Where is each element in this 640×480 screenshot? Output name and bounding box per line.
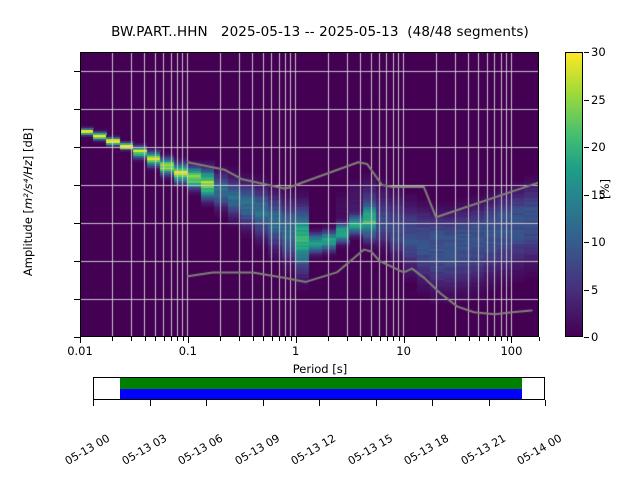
timeline-tick [489,400,490,406]
timeline-tick-label: 05-14 00 [515,432,564,468]
timeline-tick [376,400,377,406]
x-tick-minor [155,337,156,341]
x-tick-minor [380,337,381,341]
x-tick-minor [371,337,372,341]
colorbar [565,52,583,337]
colorbar-tick-label: 5 [591,283,598,297]
x-tick-minor [539,337,540,341]
x-tick-minor [112,337,113,341]
figure-title: BW.PART..HHN 2025-05-13 -- 2025-05-13 (4… [0,24,640,40]
x-tick-minor [387,337,388,341]
x-tick-minor [239,337,240,341]
x-tick-minor [479,337,480,341]
y-tick [74,71,80,72]
colorbar-tick [584,195,589,196]
y-tick [74,299,80,300]
x-axis-label: Period [s] [0,362,640,376]
x-tick-minor [263,337,264,341]
y-tick [74,261,80,262]
x-tick-minor [177,337,178,341]
x-tick-label: 100 [500,344,522,358]
colorbar-tick [584,52,589,53]
colorbar-tick [584,337,589,338]
x-tick-minor [285,337,286,341]
timeline-tick-label: 05-13 09 [232,432,281,468]
x-tick-minor [501,337,502,341]
x-tick-minor [291,337,292,341]
y-tick [74,185,80,186]
x-tick-minor [495,337,496,341]
x-tick-minor [171,337,172,341]
x-tick-minor [164,337,165,341]
y-tick [74,147,80,148]
x-tick-minor [361,337,362,341]
data-coverage-timeline[interactable] [93,377,545,400]
coverage-band-green [120,378,522,389]
timeline-tick [150,400,151,406]
x-tick-minor [393,337,394,341]
x-tick-minor [469,337,470,341]
timeline-tick [93,400,94,406]
timeline-tick-label: 05-13 12 [289,432,338,468]
x-tick-major [511,337,512,343]
ppsd-plot-area[interactable] [80,52,539,337]
x-tick-minor [272,337,273,341]
x-tick-major [80,337,81,343]
x-tick-label: 0.01 [67,344,93,358]
y-tick [74,109,80,110]
y-axis-label-units: m²/s⁴/Hz [21,160,35,209]
coverage-band-blue [120,389,522,400]
timeline-tick [319,400,320,406]
colorbar-tick-label: 10 [591,235,606,249]
colorbar-label: [%] [598,169,612,209]
x-tick-minor [455,337,456,341]
x-tick-minor [399,337,400,341]
x-tick-major [188,337,189,343]
y-tick [74,223,80,224]
x-tick-minor [253,337,254,341]
x-tick-minor [347,337,348,341]
y-axis-label-pre: Amplitude [ [21,209,35,276]
colorbar-tick [584,100,589,101]
colorbar-tick-label: 20 [591,140,606,154]
x-tick-minor [488,337,489,341]
timeline-tick [432,400,433,406]
timeline-tick-label: 05-13 21 [458,432,507,468]
x-tick-major [296,337,297,343]
timeline-tick-label: 05-13 06 [176,432,225,468]
coverage-span [120,378,522,399]
x-tick-minor [507,337,508,341]
timeline-tick-label: 05-13 00 [63,432,112,468]
x-tick-label: 10 [396,344,411,358]
timeline-tick [263,400,264,406]
ppsd-histogram-canvas [81,53,538,336]
timeline-tick-label: 05-13 18 [402,432,451,468]
y-axis-label-post: ] [dB] [21,128,35,160]
colorbar-tick-label: 25 [591,93,606,107]
x-tick-label: 1 [292,344,299,358]
x-tick-minor [436,337,437,341]
timeline-tick [206,400,207,406]
x-tick-minor [220,337,221,341]
timeline-tick-label: 05-13 15 [345,432,394,468]
colorbar-tick-label: 0 [591,330,598,344]
timeline-tick [545,400,546,406]
colorbar-tick [584,290,589,291]
x-tick-minor [279,337,280,341]
ppsd-figure: BW.PART..HHN 2025-05-13 -- 2025-05-13 (4… [0,0,640,480]
timeline-tick-label: 05-13 03 [119,432,168,468]
x-tick-major [404,337,405,343]
x-tick-label: 0.1 [179,344,197,358]
x-tick-minor [183,337,184,341]
x-tick-minor [328,337,329,341]
x-tick-minor [145,337,146,341]
colorbar-tick-label: 30 [591,45,606,59]
colorbar-tick [584,147,589,148]
y-axis-label: Amplitude [m²/s⁴/Hz] [dB] [21,52,35,352]
colorbar-tick [584,242,589,243]
x-tick-minor [131,337,132,341]
